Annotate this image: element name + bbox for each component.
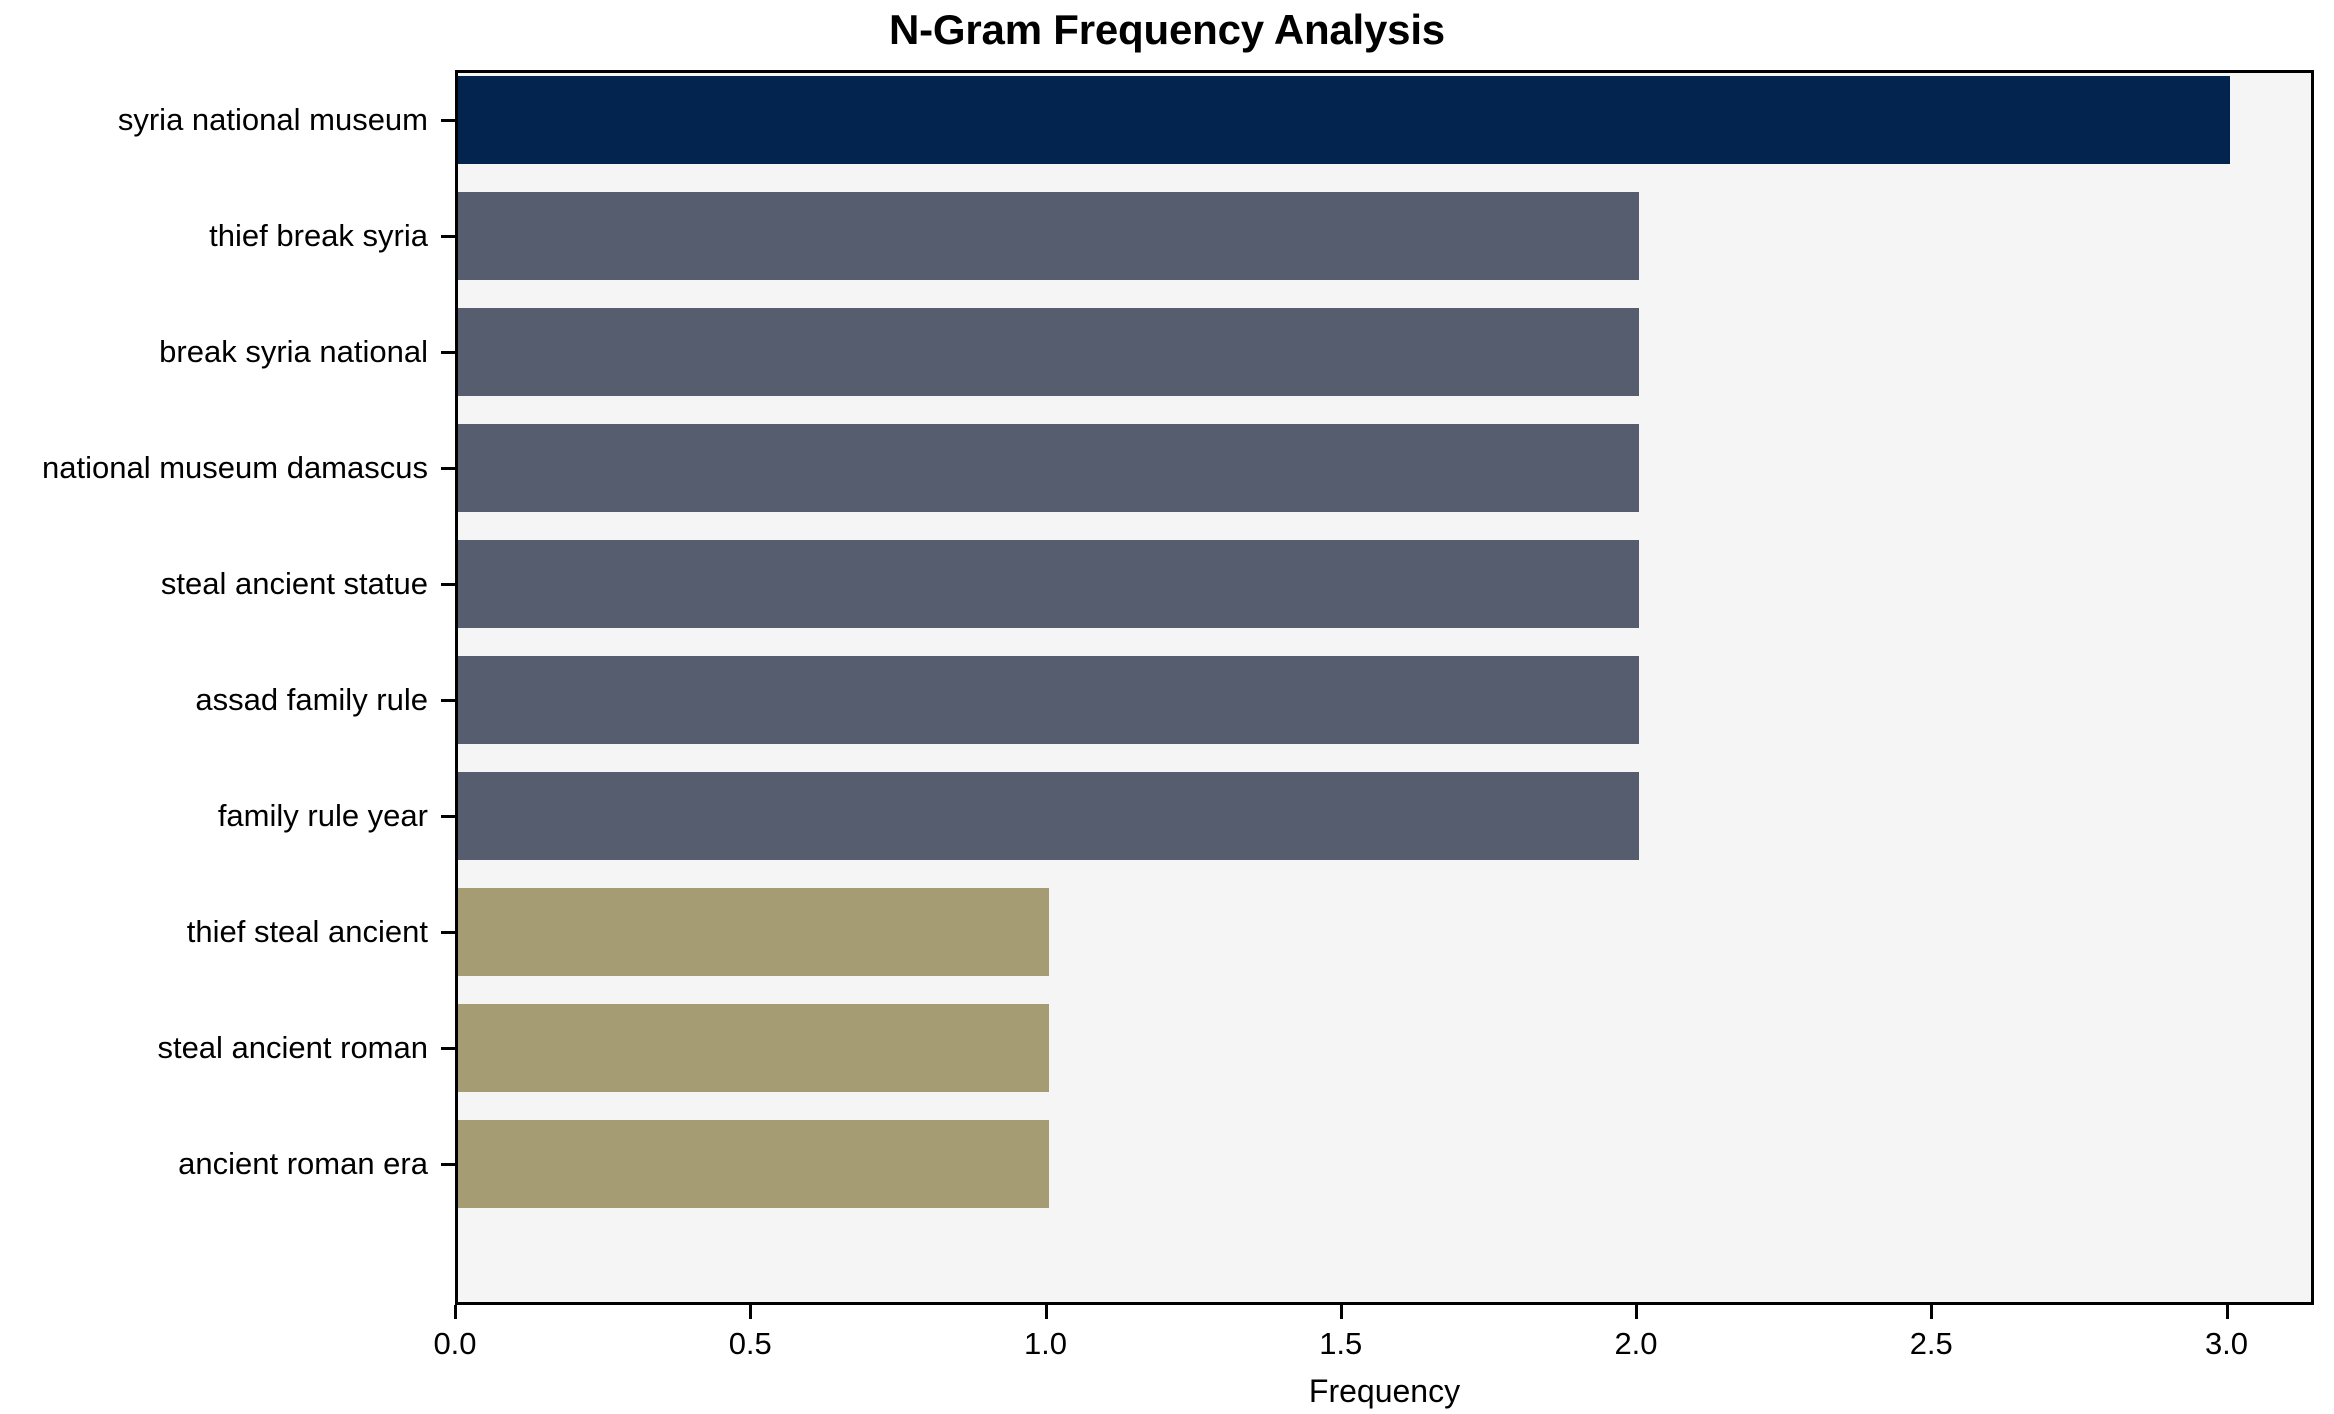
x-tick-mark xyxy=(1340,1305,1343,1319)
y-tick-mark xyxy=(441,931,455,934)
x-tick-label: 0.0 xyxy=(395,1326,515,1362)
y-tick-label: assad family rule xyxy=(0,682,428,718)
x-tick-label: 0.5 xyxy=(690,1326,810,1362)
x-tick-mark xyxy=(1930,1305,1933,1319)
x-tick-mark xyxy=(454,1305,457,1319)
y-tick-mark xyxy=(441,119,455,122)
y-tick-mark xyxy=(441,1047,455,1050)
y-tick-mark xyxy=(441,235,455,238)
y-tick-label: syria national museum xyxy=(0,102,428,138)
y-tick-label: thief steal ancient xyxy=(0,914,428,950)
bar xyxy=(458,772,1639,860)
bar xyxy=(458,888,1049,976)
y-tick-label: steal ancient roman xyxy=(0,1030,428,1066)
y-tick-label: steal ancient statue xyxy=(0,566,428,602)
bars-container xyxy=(458,73,2311,1302)
bar xyxy=(458,1120,1049,1208)
x-axis-title: Frequency xyxy=(455,1372,2314,1410)
x-tick-mark xyxy=(749,1305,752,1319)
y-tick-mark xyxy=(441,1163,455,1166)
bar xyxy=(458,656,1639,744)
bar xyxy=(458,76,2230,164)
y-tick-mark xyxy=(441,467,455,470)
bar xyxy=(458,1004,1049,1092)
plot-area xyxy=(455,70,2314,1305)
y-tick-label: family rule year xyxy=(0,798,428,834)
bar xyxy=(458,540,1639,628)
y-tick-mark xyxy=(441,351,455,354)
x-tick-label: 2.5 xyxy=(1871,1326,1991,1362)
y-tick-mark xyxy=(441,699,455,702)
y-tick-label: break syria national xyxy=(0,334,428,370)
chart-title: N-Gram Frequency Analysis xyxy=(0,2,2334,58)
y-tick-label: ancient roman era xyxy=(0,1146,428,1182)
bar xyxy=(458,192,1639,280)
x-tick-mark xyxy=(1045,1305,1048,1319)
bar xyxy=(458,308,1639,396)
bar xyxy=(458,424,1639,512)
y-tick-mark xyxy=(441,815,455,818)
figure-canvas: N-Gram Frequency Analysis syria national… xyxy=(0,0,2334,1414)
y-tick-mark xyxy=(441,583,455,586)
x-tick-label: 1.5 xyxy=(1281,1326,1401,1362)
x-tick-label: 3.0 xyxy=(2167,1326,2287,1362)
y-tick-label: national museum damascus xyxy=(0,450,428,486)
x-tick-mark xyxy=(1635,1305,1638,1319)
x-tick-label: 2.0 xyxy=(1576,1326,1696,1362)
x-tick-label: 1.0 xyxy=(986,1326,1106,1362)
x-tick-mark xyxy=(2226,1305,2229,1319)
y-tick-label: thief break syria xyxy=(0,218,428,254)
